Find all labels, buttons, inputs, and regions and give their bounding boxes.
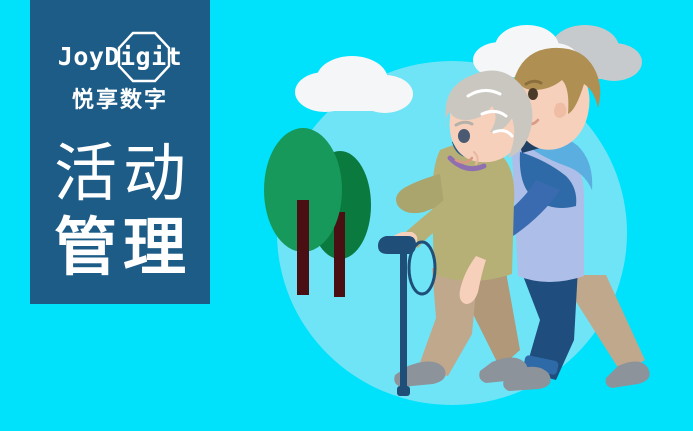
title-panel: JoyDigit 悦享数字 活动 管理	[30, 0, 210, 304]
page-title: 活动 管理	[30, 137, 210, 285]
page-title-line-1: 活动	[30, 137, 210, 211]
cane-handle	[378, 236, 416, 254]
brand-subtitle: 悦享数字	[30, 86, 210, 116]
cane-tip	[397, 386, 410, 396]
activity-management-banner: JoyDigit 悦享数字 活动 管理	[0, 0, 693, 431]
man-eye	[528, 88, 538, 100]
page-title-line-2: 管理	[30, 211, 210, 285]
logo-wordmark: JoyDigit	[30, 30, 210, 84]
woman-eye	[458, 129, 470, 143]
man-ear	[554, 103, 566, 118]
logo-wrap: JoyDigit	[30, 30, 210, 84]
brand-block: JoyDigit 悦享数字	[30, 30, 210, 116]
